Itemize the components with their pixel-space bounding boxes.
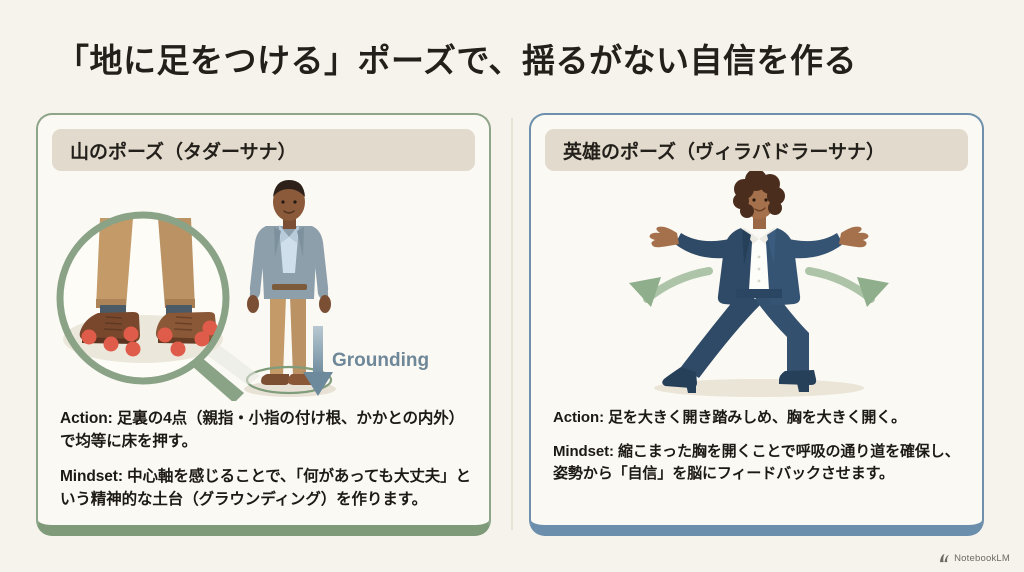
- card-header-mountain: 山のポーズ（タダーサナ）: [52, 129, 475, 171]
- action-label: Action:: [553, 409, 604, 426]
- action-label: Action:: [60, 410, 113, 427]
- card-mountain-pose: 山のポーズ（タダーサナ）: [36, 113, 491, 536]
- pressure-point-dot: [171, 342, 186, 357]
- action-paragraph: Action: 足裏の4点（親指・小指の付け根、かかとの内外）で均等に床を押す。: [60, 407, 471, 454]
- expansion-arrow-right-icon: [809, 271, 889, 307]
- watermark-label: NotebookLM: [954, 553, 1010, 564]
- slide-root: 「地に足をつける」ポーズで、揺るがない自信を作る 山のポーズ（タダーサナ）: [0, 0, 1024, 572]
- illustration-woman-warrior-pose: [531, 171, 982, 401]
- card-header-label: 山のポーズ（タダーサナ）: [70, 137, 297, 164]
- card-warrior-pose: 英雄のポーズ（ヴィラバドラーサナ）: [529, 113, 984, 536]
- pressure-point-dot: [124, 327, 139, 342]
- expansion-arrow-left-icon: [629, 271, 709, 307]
- pressure-point-dot: [126, 342, 141, 357]
- pressure-point-dot: [158, 328, 173, 343]
- watermark: NotebookLM: [939, 553, 1010, 564]
- action-paragraph: Action: 足を大きく開き踏みしめ、胸を大きく開く。: [553, 407, 964, 430]
- page-title: 「地に足をつける」ポーズで、揺るがない自信を作る: [56, 34, 857, 82]
- grounding-label: Grounding: [332, 350, 429, 372]
- warrior-pose-svg: [531, 171, 984, 401]
- card-divider: [511, 118, 513, 530]
- mindset-paragraph: Mindset: 縮こまった胸を開くことで呼吸の通り道を確保し、姿勢から「自信」…: [553, 441, 964, 486]
- card-body-mountain: Action: 足裏の4点（親指・小指の付け根、かかとの内外）で均等に床を押す。…: [60, 407, 471, 522]
- card-header-warrior: 英雄のポーズ（ヴィラバドラーサナ）: [545, 129, 968, 171]
- mindset-paragraph: Mindset: 中心軸を感じることで、「何があっても大丈夫」という精神的な土台…: [60, 465, 471, 512]
- mindset-label: Mindset:: [60, 468, 123, 485]
- action-text: 足を大きく開き踏みしめ、胸を大きく開く。: [604, 409, 906, 426]
- action-text: 足裏の4点（親指・小指の付け根、かかとの内外）で均等に床を押す。: [60, 410, 464, 450]
- pressure-point-dot: [82, 330, 97, 345]
- card-header-label: 英雄のポーズ（ヴィラバドラーサナ）: [563, 137, 885, 164]
- card-body-warrior: Action: 足を大きく開き踏みしめ、胸を大きく開く。 Mindset: 縮こ…: [553, 407, 964, 497]
- mindset-label: Mindset:: [553, 443, 614, 460]
- magnifier-graphic: [60, 215, 244, 401]
- notebooklm-icon: [939, 553, 950, 564]
- mindset-text: 縮こまった胸を開くことで呼吸の通り道を確保し、姿勢から「自信」を脳にフィードバッ…: [553, 443, 960, 483]
- pressure-point-dot: [104, 337, 119, 352]
